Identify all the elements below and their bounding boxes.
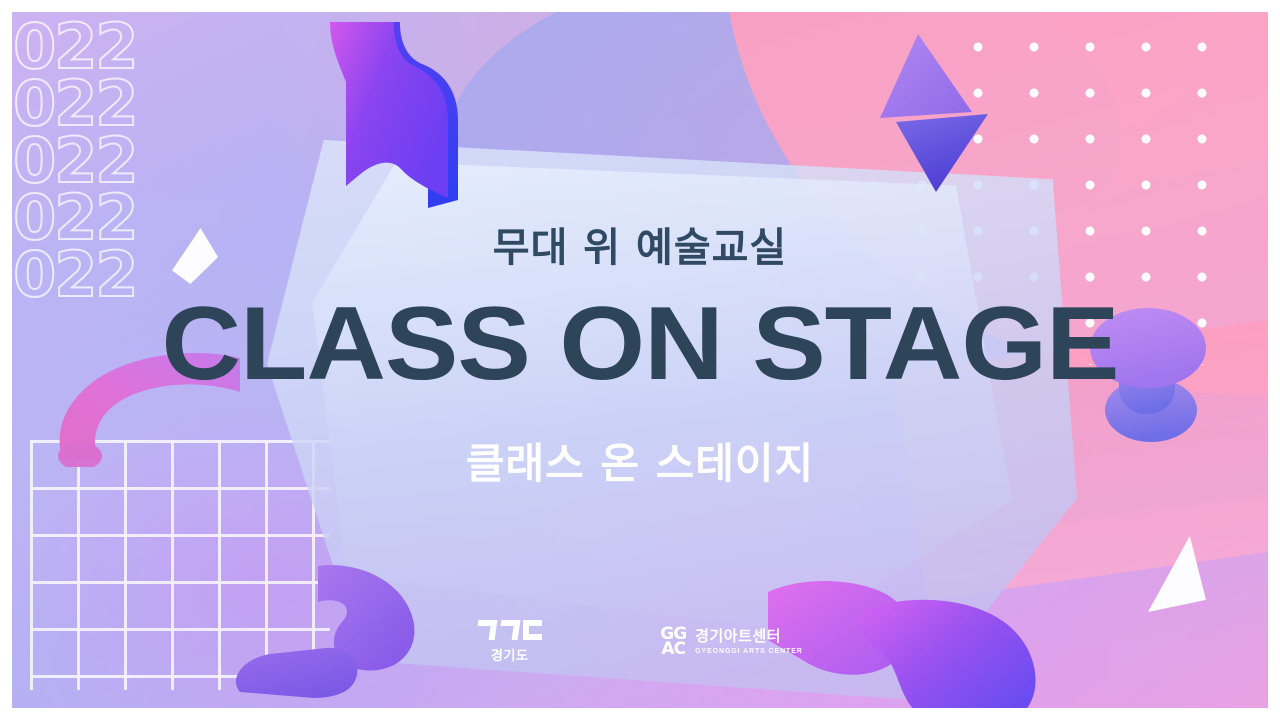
kicker-text: 무대 위 예술교실 — [12, 226, 1268, 270]
poster-canvas: 2022 2022 2022 2022 2022 — [0, 0, 1280, 720]
page-title: CLASS ON STAGE — [12, 292, 1268, 396]
triangle-pair-shape — [880, 26, 1010, 196]
giyeok-mark-icon — [499, 620, 521, 640]
digeut-mark-icon — [523, 620, 542, 640]
gyeonggi-do-logo: 경기도 — [477, 620, 542, 664]
subtitle-text: 클래스 온 스테이지 — [12, 430, 1268, 491]
ggac-logo: GG AC 경기아트센터 GYEONGGI ARTS CENTER — [660, 627, 803, 656]
ggac-label-kr: 경기아트센터 — [695, 629, 803, 646]
ribbon-shape — [302, 22, 502, 222]
ggac-mark-line2: AC — [661, 642, 685, 657]
gyeonggi-do-label: 경기도 — [491, 645, 528, 664]
ggac-label-en: GYEONGGI ARTS CENTER — [695, 648, 803, 655]
artwork-area: 2022 2022 2022 2022 2022 — [12, 12, 1268, 708]
ggac-mark-icon: GG AC — [660, 627, 686, 656]
logo-row: 경기도 GG AC 경기아트센터 GYEONGGI ARTS CENTER — [12, 620, 1268, 664]
title-block: 무대 위 예술교실 CLASS ON STAGE 클래스 온 스테이지 — [12, 226, 1268, 491]
giyeok-mark-icon — [476, 620, 498, 640]
gyeonggi-do-mark-icon — [477, 620, 542, 640]
